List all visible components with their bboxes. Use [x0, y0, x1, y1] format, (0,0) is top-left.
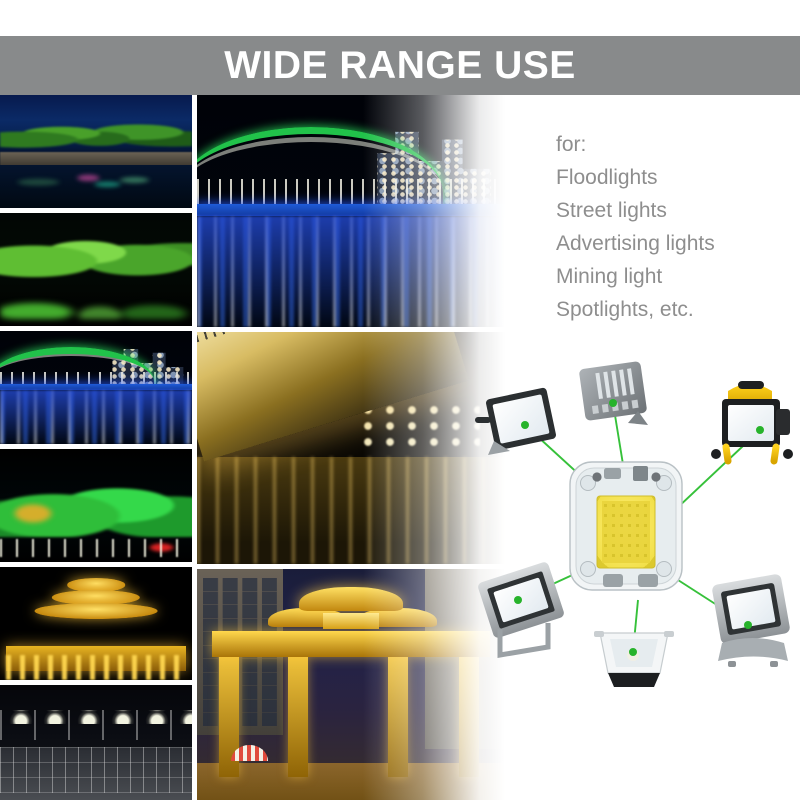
usage-lead: for:	[556, 128, 796, 161]
cob-led-chip	[570, 462, 682, 590]
photo-garden-night-pond	[0, 95, 192, 208]
usage-item-street-lights: Street lights	[556, 194, 796, 227]
photo-arch-bridge-city	[0, 331, 192, 444]
photo-green-hillside-river	[0, 449, 192, 562]
usage-item-spotlights: Spotlights, etc.	[556, 293, 796, 326]
photo-floodlit-sports-court	[0, 685, 192, 800]
floodlight-base-right	[711, 573, 790, 667]
floodlight-slim-left	[475, 387, 557, 455]
photo-arch-bridge-large	[197, 95, 505, 327]
photo-green-uplit-trees	[0, 213, 192, 326]
photo-fade-overlay	[363, 95, 505, 327]
product-diagram	[470, 355, 800, 695]
usage-item-mining-light: Mining light	[556, 260, 796, 293]
photo-golden-paifang-gate	[197, 569, 505, 800]
portable-work-light	[711, 381, 793, 461]
usage-item-advertising-lights: Advertising lights	[556, 227, 796, 260]
collage-middle-column	[197, 95, 505, 800]
page-title: WIDE RANGE USE	[224, 46, 576, 85]
photo-golden-pagoda	[0, 567, 192, 680]
photo-amber-bridge-underside	[197, 332, 505, 564]
usage-list: for: Floodlights Street lights Advertisi…	[556, 128, 796, 326]
floodlight-bracket-left	[477, 561, 565, 655]
recessed-downlight	[594, 631, 674, 687]
floodlight-heatsink-top	[579, 361, 648, 425]
header-banner: WIDE RANGE USE	[0, 36, 800, 95]
product-infographic: WIDE RANGE USE	[0, 0, 800, 800]
collage-left-column	[0, 95, 192, 800]
usage-item-floodlights: Floodlights	[556, 161, 796, 194]
photo-collage	[0, 95, 505, 800]
